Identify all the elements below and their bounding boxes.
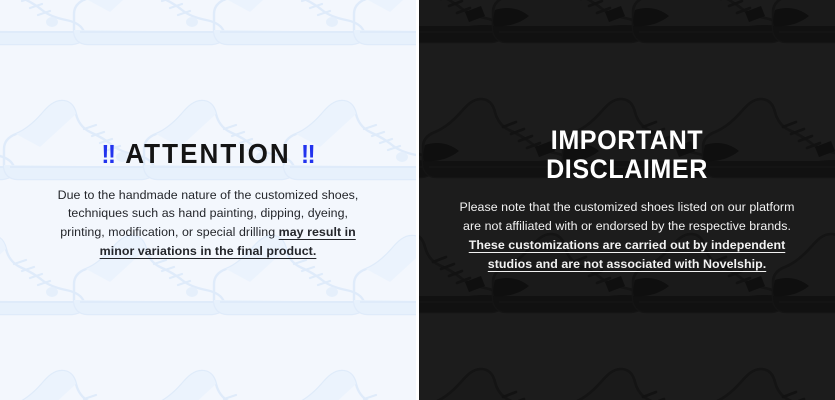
- attention-content: ‼ ATTENTION ‼ Due to the handmade nature…: [0, 139, 416, 261]
- double-exclamation-right-icon: ‼: [301, 141, 315, 167]
- disclaimer-body-text: Please note that the customized shoes li…: [458, 198, 796, 273]
- disclaimer-body-emphasis: These customizations are carried out by …: [469, 238, 786, 271]
- disclaimer-heading-line-1: IMPORTANT: [465, 126, 789, 155]
- disclaimer-heading-line-2: DISCLAIMER: [465, 155, 789, 184]
- disclaimer-heading: IMPORTANT DISCLAIMER: [465, 126, 789, 183]
- disclaimer-banner: ‼ ATTENTION ‼ Due to the handmade nature…: [0, 0, 835, 400]
- disclaimer-content: IMPORTANT DISCLAIMER Please note that th…: [419, 126, 835, 274]
- double-exclamation-left-icon: ‼: [101, 141, 115, 167]
- attention-body-text: Due to the handmade nature of the custom…: [48, 186, 368, 261]
- attention-heading-text: ATTENTION: [125, 139, 290, 169]
- attention-panel: ‼ ATTENTION ‼ Due to the handmade nature…: [0, 0, 416, 400]
- disclaimer-body-plain: Please note that the customized shoes li…: [460, 200, 795, 233]
- attention-heading: ‼ ATTENTION ‼: [46, 139, 370, 169]
- disclaimer-panel: IMPORTANT DISCLAIMER Please note that th…: [419, 0, 835, 400]
